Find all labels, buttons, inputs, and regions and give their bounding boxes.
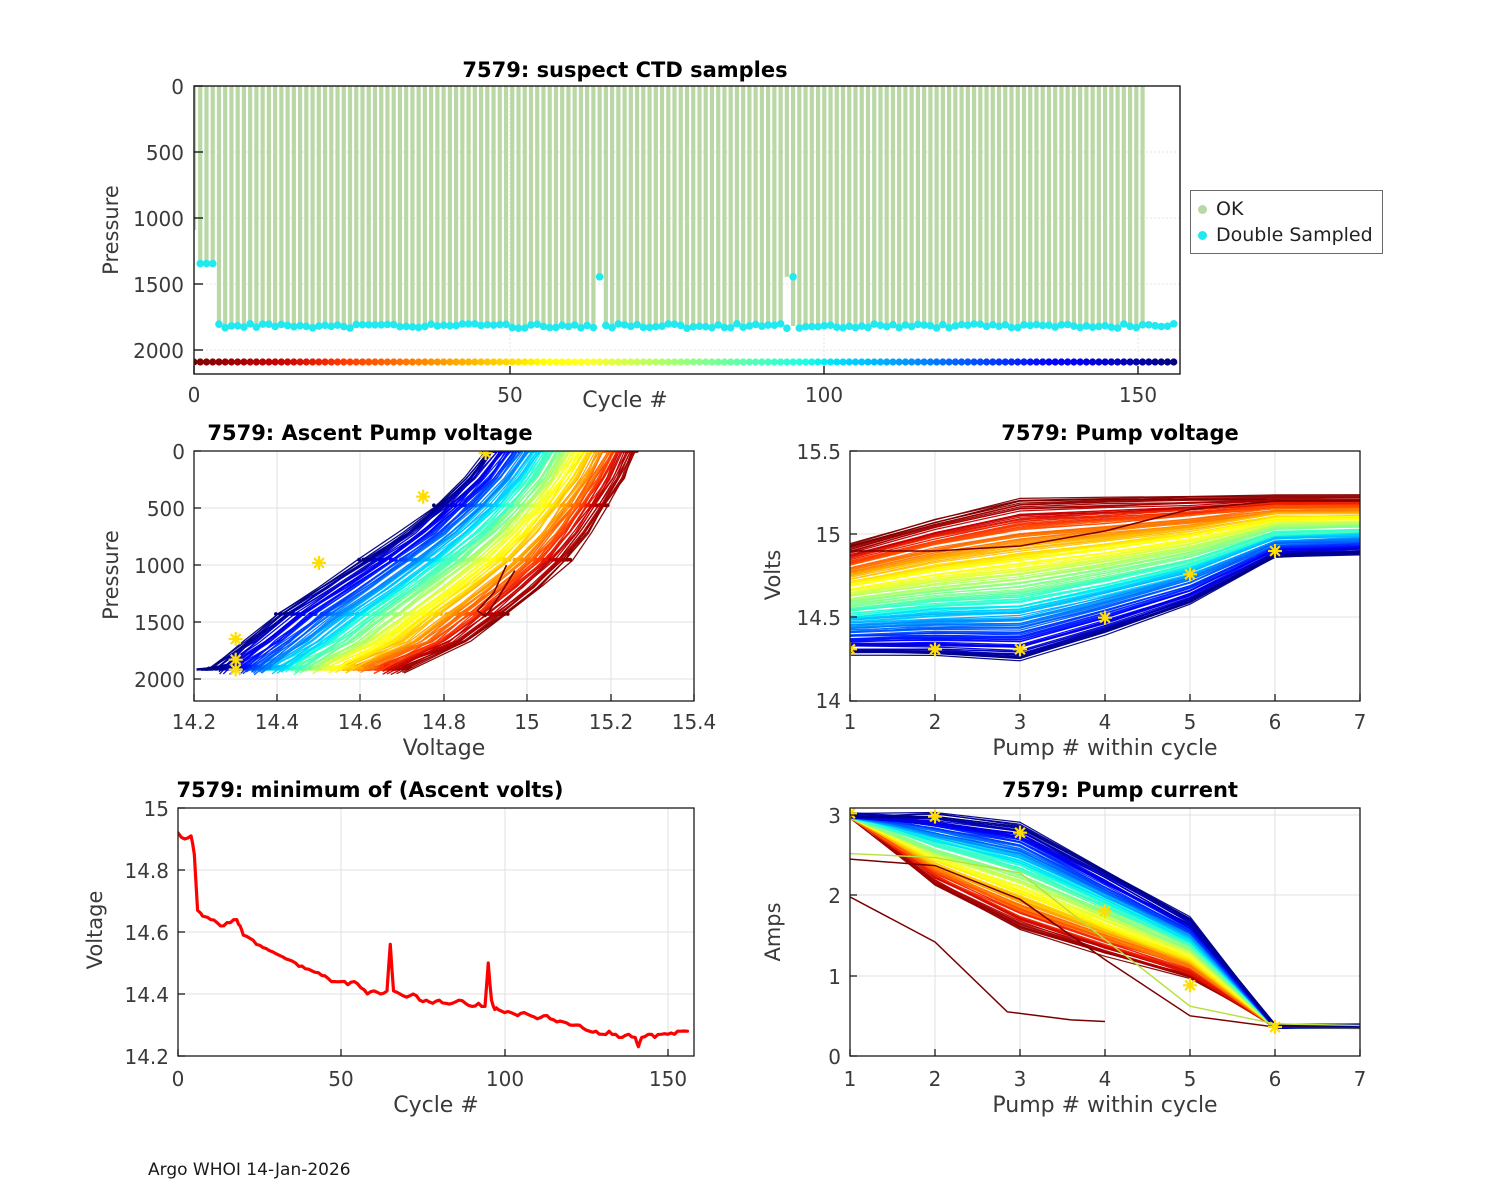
xtick-label-mr-2: 2 [929, 710, 942, 734]
chart-minimum-ascent-volts: 15 14.8 14.6 14.4 14.2 0 50 100 150 Volt… [0, 770, 740, 1120]
ytick-label-br-3: 3 [828, 804, 841, 828]
xtick-label-ml-2: 14.6 [338, 710, 383, 734]
xtick-label-br-2: 2 [929, 1067, 942, 1091]
panel-title-ascent-pump-voltage: 7579: Ascent Pump voltage [0, 421, 740, 445]
ytick-label-top-1500: 1500 [133, 273, 184, 297]
xtick-label-mr-1: 1 [844, 710, 857, 734]
panel-title-minimum-ascent-volts: 7579: minimum of (Ascent volts) [0, 778, 740, 802]
ytick-label-bl-144: 14.4 [124, 983, 169, 1007]
xlabel-bl: Cycle # [393, 1093, 479, 1118]
panel-title-pump-current: 7579: Pump current [740, 778, 1500, 802]
panel-minimum-ascent-volts: 7579: minimum of (Ascent volts) 15 [0, 770, 740, 1120]
ytick-label-br-2: 2 [828, 884, 841, 908]
xtick-label-ml-4: 15 [514, 710, 539, 734]
xtick-label-ml-0: 14.2 [172, 710, 217, 734]
xtick-label-bl-100: 100 [486, 1067, 524, 1091]
xtick-label-ml-5: 15.2 [589, 710, 634, 734]
xlabel-mr: Pump # within cycle [992, 736, 1217, 760]
xtick-label-mr-4: 4 [1099, 710, 1112, 734]
xlabel-br: Pump # within cycle [992, 1093, 1217, 1118]
xlabel-ml: Voltage [403, 736, 486, 760]
ytick-label-br-0: 0 [828, 1045, 841, 1069]
chart-ascent-pump-voltage: 0 500 1000 1500 2000 14.2 14.4 14.6 14.8… [0, 415, 740, 760]
chart-pump-current: 3 2 1 0 1 2 3 4 5 6 7 Amps Pump # within… [740, 770, 1500, 1120]
xtick-label-bl-0: 0 [172, 1067, 185, 1091]
ytick-label-mr-14: 14 [816, 689, 841, 713]
figure-footer: Argo WHOI 14-Jan-2026 [148, 1160, 351, 1180]
xtick-label-br-5: 5 [1184, 1067, 1197, 1091]
panel-pump-voltage: 7579: Pump voltage 15.5 1 [740, 415, 1500, 760]
chart-pump-voltage: 15.5 15 14.5 14 1 2 3 4 5 6 7 Volts Pump… [740, 415, 1500, 760]
ytick-label-ml-500: 500 [147, 497, 185, 521]
xlabel-top: Cycle # [582, 388, 668, 413]
xtick-label-bl-50: 50 [328, 1067, 353, 1091]
legend-label-double-sampled: Double Sampled [1216, 224, 1373, 246]
xlabel-top-wrap: Cycle # [0, 388, 1250, 413]
legend-dot-double-sampled-icon [1198, 231, 1207, 240]
ylabel-br: Amps [761, 902, 785, 961]
ytick-label-bl-142: 14.2 [124, 1045, 169, 1069]
xtick-label-mr-3: 3 [1014, 710, 1027, 734]
legend-item-double-sampled: Double Sampled [1198, 222, 1373, 248]
ytick-label-ml-1500: 1500 [134, 611, 185, 635]
legend-dot-ok-icon [1198, 205, 1207, 214]
xtick-label-ml-6: 15.4 [672, 710, 717, 734]
ytick-label-top-1000: 1000 [133, 207, 184, 231]
ytick-label-bl-146: 14.6 [124, 921, 169, 945]
panel-suspect-ctd-samples: 7579: suspect CTD samples [0, 52, 1250, 412]
xtick-label-br-3: 3 [1014, 1067, 1027, 1091]
panel-ascent-pump-voltage: 7579: Ascent Pump voltage [0, 415, 740, 760]
xtick-label-br-6: 6 [1269, 1067, 1282, 1091]
xtick-label-mr-6: 6 [1269, 710, 1282, 734]
legend-label-ok: OK [1216, 198, 1243, 220]
xtick-label-br-7: 7 [1354, 1067, 1367, 1091]
ytick-label-ml-2000: 2000 [134, 668, 185, 692]
ylabel-mr: Volts [761, 550, 785, 601]
ytick-label-br-1: 1 [828, 965, 841, 989]
legend-item-ok: OK [1198, 196, 1373, 222]
chart-suspect-ctd-samples: 0 500 1000 1500 2000 0 50 100 150 Pressu… [0, 52, 1250, 412]
xtick-label-mr-7: 7 [1354, 710, 1367, 734]
xtick-label-br-4: 4 [1099, 1067, 1112, 1091]
panel-title-pump-voltage: 7579: Pump voltage [740, 421, 1500, 445]
ytick-label-ml-1000: 1000 [134, 554, 185, 578]
ytick-label-mr-15: 15 [816, 523, 841, 547]
ylabel-top: Pressure [99, 185, 123, 275]
plot-area-top [190, 86, 1180, 374]
ytick-label-bl-148: 14.8 [124, 859, 169, 883]
ytick-label-top-500: 500 [146, 141, 184, 165]
panel-pump-current: 7579: Pump current 3 2 [740, 770, 1500, 1120]
ytick-label-top-2000: 2000 [133, 339, 184, 363]
legend-top-panel: OK Double Sampled [1190, 190, 1383, 254]
xtick-label-ml-1: 14.4 [255, 710, 300, 734]
ytick-label-mr-145: 14.5 [796, 606, 841, 630]
ylabel-bl: Voltage [83, 891, 107, 970]
xtick-label-bl-150: 150 [649, 1067, 687, 1091]
xtick-label-ml-3: 14.8 [422, 710, 467, 734]
xtick-label-mr-5: 5 [1184, 710, 1197, 734]
ylabel-ml: Pressure [99, 530, 123, 620]
xtick-label-br-1: 1 [844, 1067, 857, 1091]
panel-title-suspect-ctd-samples: 7579: suspect CTD samples [0, 58, 1250, 82]
